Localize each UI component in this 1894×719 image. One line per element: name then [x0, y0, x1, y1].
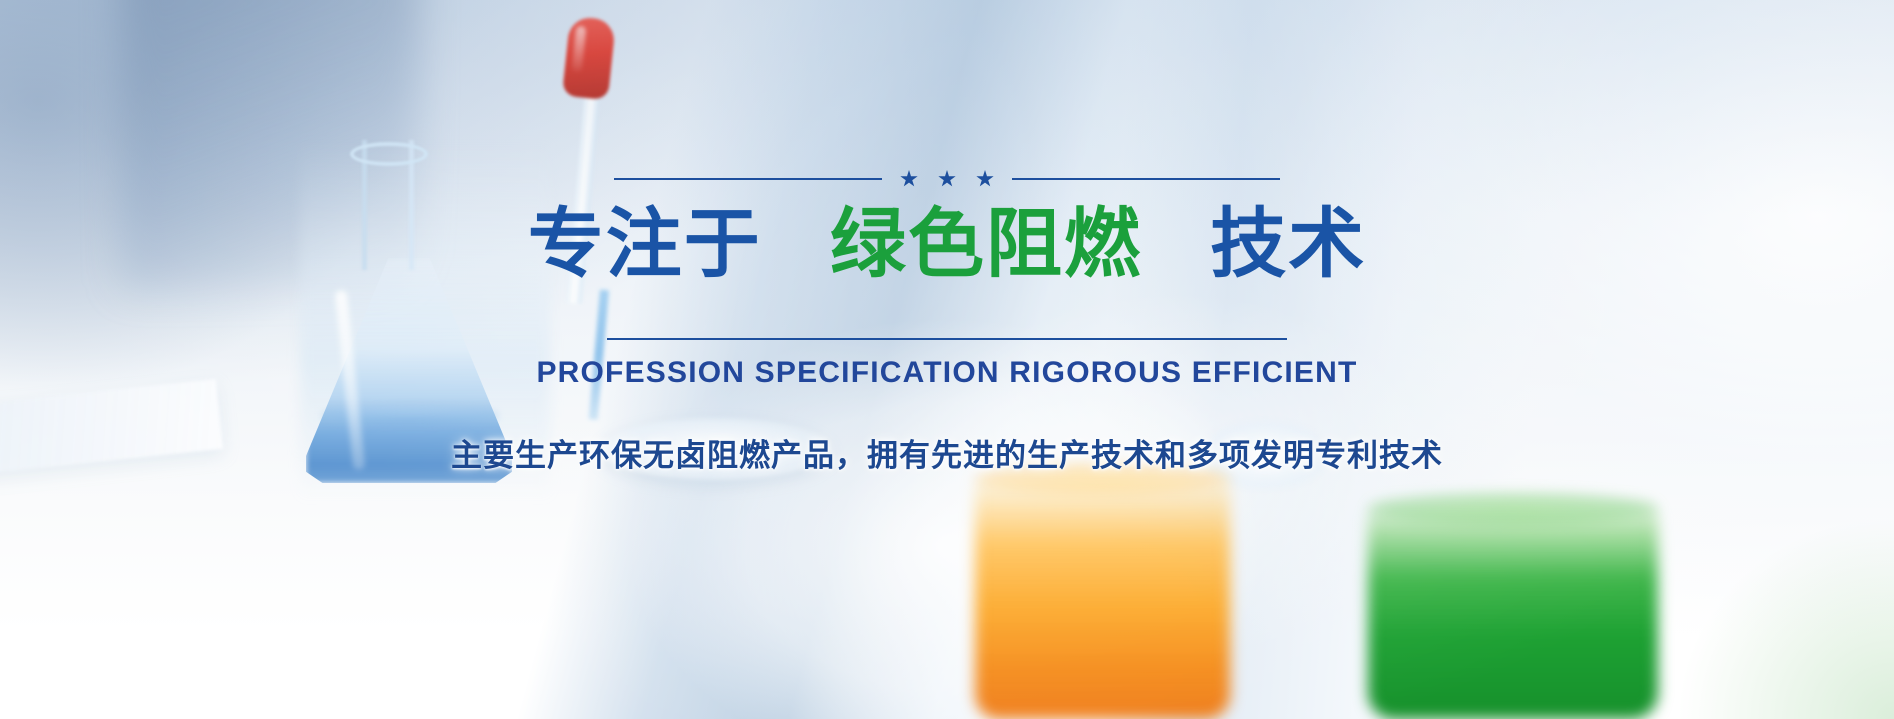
star-icon [938, 170, 956, 188]
banner-headline: 专注于 绿色阻燃 技术 [0, 202, 1894, 287]
divider-line-right [1012, 178, 1280, 180]
banner-description: 主要生产环保无卤阻燃产品，拥有先进的生产技术和多项发明专利技术 [0, 430, 1894, 475]
headline-part-2: 绿色阻燃 [830, 202, 1142, 287]
hero-banner: 专注于 绿色阻燃 技术 PROFESSION SPECIFICATION RIG… [0, 0, 1894, 719]
headline-part-1: 专注于 [528, 202, 762, 287]
divider-line-left [614, 178, 882, 180]
star-icon [976, 170, 994, 188]
decorative-divider-row [0, 168, 1894, 190]
divider-line-under-headline [607, 338, 1287, 340]
banner-content: 专注于 绿色阻燃 技术 PROFESSION SPECIFICATION RIG… [0, 168, 1894, 475]
star-group [900, 170, 994, 188]
headline-part-3: 技术 [1210, 202, 1366, 287]
star-icon [900, 170, 918, 188]
banner-subtitle: PROFESSION SPECIFICATION RIGOROUS EFFICI… [0, 356, 1894, 390]
